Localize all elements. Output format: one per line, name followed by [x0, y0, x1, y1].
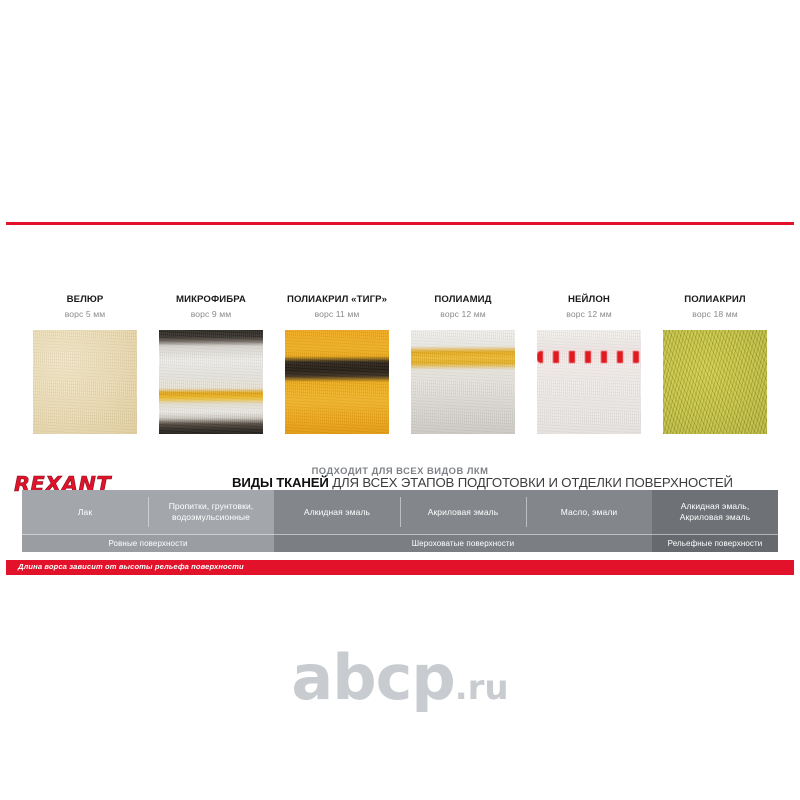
abcp-watermark: abcp.ru: [0, 646, 800, 720]
fabric-column-polyamide: ПОЛИАМИД ворс 12 мм: [400, 294, 526, 454]
fabric-texture-overlay: [33, 330, 137, 434]
fabric-texture-overlay: [537, 330, 641, 434]
nylon-swatch: [537, 330, 641, 434]
section-subtitle: ПОДХОДИТ ДЛЯ ВСЕХ ВИДОВ ЛКМ: [0, 465, 800, 476]
fabric-column-tiger: ПОЛИАКРИЛ «ТИГР» ворс 11 мм: [274, 294, 400, 454]
fabric-pile: ворс 9 мм: [191, 308, 232, 320]
fabric-name: ПОЛИАКРИЛ: [684, 294, 745, 306]
compatibility-table: Лак Пропитки, грунтовки, водоэмульсионны…: [22, 490, 778, 552]
velour-swatch: [33, 330, 137, 434]
polyamide-swatch: [411, 330, 515, 434]
header-band: REXANT ВИДЫ ТКАНЕЙ ДЛЯ ВСЕХ ЭТАПОВ ПОДГО…: [0, 232, 800, 272]
page-title-rest: ДЛЯ ВСЕХ ЭТАПОВ ПОДГОТОВКИ И ОТДЕЛКИ ПОВ…: [329, 475, 733, 490]
paint-cell: Акриловая эмаль: [400, 490, 526, 534]
fabric-pile: ворс 18 мм: [692, 308, 737, 320]
nylon-red-stripe: [537, 351, 641, 363]
paint-type-row: Лак Пропитки, грунтовки, водоэмульсионны…: [22, 490, 778, 534]
fabric-pile: ворс 11 мм: [315, 308, 360, 320]
paint-cell: Алкидная эмаль: [274, 490, 400, 534]
paint-cell: Лак: [22, 490, 148, 534]
note-text: Длина ворса зависит от высоты рельефа по…: [18, 562, 244, 571]
fabric-texture-overlay: [159, 330, 263, 434]
fabric-name: НЕЙЛОН: [568, 294, 610, 306]
fabric-texture-overlay: [663, 330, 767, 434]
surface-cell: Шероховатые поверхности: [274, 534, 652, 552]
fabric-column-microfibre: МИКРОФИБРА ворс 9 мм: [148, 294, 274, 454]
paint-cell: Алкидная эмаль, Акриловая эмаль: [652, 490, 778, 534]
page-title: ВИДЫ ТКАНЕЙ ДЛЯ ВСЕХ ЭТАПОВ ПОДГОТОВКИ И…: [232, 475, 784, 490]
tiger-swatch: [285, 330, 389, 434]
surface-cell: Ровные поверхности: [22, 534, 274, 552]
fabric-column-velour: ВЕЛЮР ворс 5 мм: [22, 294, 148, 454]
fabric-pile: ворс 12 мм: [566, 308, 611, 320]
top-red-rule: [6, 222, 794, 225]
watermark-main: abcp: [291, 641, 454, 714]
paint-cell: Масло, эмали: [526, 490, 652, 534]
fabric-column-nylon: НЕЙЛОН ворс 12 мм: [526, 294, 652, 454]
fabric-name: ПОЛИАМИД: [434, 294, 491, 306]
fabric-column-polyacryl: ПОЛИАКРИЛ ворс 18 мм: [652, 294, 778, 454]
infographic-poster: REXANT ВИДЫ ТКАНЕЙ ДЛЯ ВСЕХ ЭТАПОВ ПОДГО…: [0, 0, 800, 800]
fabric-columns: ВЕЛЮР ворс 5 мм МИКРОФИБРА ворс 9 мм ПОЛ…: [22, 294, 778, 454]
fabric-texture-overlay: [285, 330, 389, 434]
fabric-name: ПОЛИАКРИЛ «ТИГР»: [287, 294, 387, 306]
fabric-name: ВЕЛЮР: [67, 294, 104, 306]
fabric-pile: ворс 12 мм: [440, 308, 485, 320]
microfibre-swatch: [159, 330, 263, 434]
surface-type-row: Ровные поверхности Шероховатые поверхнос…: [22, 534, 778, 552]
watermark-suffix: .ru: [455, 668, 509, 708]
fabric-pile: ворс 5 мм: [65, 308, 106, 320]
fabric-texture-overlay: [411, 330, 515, 434]
page-title-strong: ВИДЫ ТКАНЕЙ: [232, 475, 329, 490]
paint-cell: Пропитки, грунтовки, водоэмульсионные: [148, 490, 274, 534]
polyacryl-swatch: [663, 330, 767, 434]
fabric-name: МИКРОФИБРА: [176, 294, 246, 306]
surface-cell: Рельефные поверхности: [652, 534, 778, 552]
